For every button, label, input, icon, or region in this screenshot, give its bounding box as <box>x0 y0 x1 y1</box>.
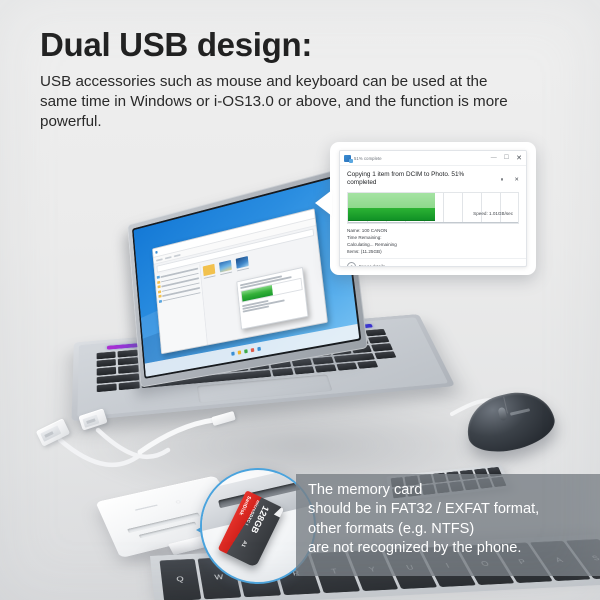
ribbon-tab[interactable] <box>165 256 172 259</box>
ribbon-tab[interactable] <box>174 254 181 257</box>
pc-icon <box>157 276 160 279</box>
key[interactable] <box>293 366 314 374</box>
dialog-actions[interactable]: ⏸ ✕ <box>501 171 520 184</box>
minimize-icon[interactable]: — <box>491 155 497 161</box>
memory-card-note-banner: The memory card should be in FAT32 / EXF… <box>296 474 600 576</box>
file-item[interactable] <box>236 256 249 271</box>
note-line-2: should be in FAT32 / EXFAT format, <box>308 500 594 519</box>
copy-details: Name: 100 CANON Time Remaining: Calculat… <box>347 228 519 256</box>
taskbar-icon-app[interactable] <box>257 347 261 351</box>
folder-icon <box>158 285 161 288</box>
key[interactable] <box>372 343 393 351</box>
cancel-button[interactable]: ✕ <box>514 178 519 184</box>
usb-tongue <box>82 415 99 428</box>
key[interactable] <box>119 381 140 390</box>
key-q[interactable]: Q <box>160 559 202 600</box>
taskbar-icon-start[interactable] <box>231 352 235 356</box>
folder-icon <box>157 281 160 284</box>
detail-name: Name: 100 CANON <box>347 228 519 235</box>
file-item[interactable] <box>219 260 232 275</box>
key[interactable] <box>357 361 379 369</box>
headline-block: Dual USB design: USB accessories such as… <box>40 28 560 133</box>
pause-button[interactable]: ⏸ <box>501 178 504 184</box>
detail-items: Items: (11.25GB) <box>347 249 519 256</box>
hub-led-icon <box>175 500 181 504</box>
note-line-1: The memory card <box>308 481 594 500</box>
fewer-details-link[interactable]: Fewer details <box>359 264 385 267</box>
window-controls[interactable]: — ☐ ✕ <box>491 155 522 162</box>
chevron-up-icon[interactable]: ⌃ <box>347 262 356 267</box>
dialog-body: Copying 1 item from DCIM to Photo. 51% c… <box>340 166 526 258</box>
key[interactable] <box>118 357 138 365</box>
dialog-header-row: Copying 1 item from DCIM to Photo. 51% c… <box>347 171 519 188</box>
taskbar-icon-app[interactable] <box>244 349 248 353</box>
key[interactable] <box>312 356 333 364</box>
subcopy-text: USB accessories such as mouse and keyboa… <box>40 72 510 133</box>
page-title: Dual USB design: <box>40 28 560 63</box>
callout-tail <box>315 190 332 216</box>
sd-class-label: A1 <box>240 539 248 548</box>
key[interactable] <box>118 365 138 373</box>
detail-time-remaining: Time Remaining: <box>347 235 519 242</box>
explorer-sidebar[interactable] <box>155 265 208 355</box>
key[interactable] <box>368 336 389 344</box>
detail-calculating: Calculating... Remaining <box>347 242 519 249</box>
close-icon[interactable]: ✕ <box>516 155 522 162</box>
copy-icon <box>344 155 351 162</box>
dialog-footer[interactable]: ⌃ Fewer details <box>340 258 526 267</box>
progress-fill-light <box>348 193 435 208</box>
explorer-icon <box>156 251 158 254</box>
copy-progress-dialog[interactable]: 51% complete — ☐ ✕ Copying 1 item from D… <box>339 150 527 267</box>
taskbar-icon-app[interactable] <box>251 348 255 352</box>
hub-logo <box>135 504 158 511</box>
dialog-title: 51% complete <box>354 156 382 161</box>
key[interactable] <box>272 368 293 377</box>
drive-icon <box>159 300 162 303</box>
key[interactable] <box>97 367 117 376</box>
mouse-brand-mark <box>510 408 530 415</box>
maximize-icon[interactable]: ☐ <box>504 155 509 161</box>
file-item[interactable] <box>203 264 216 279</box>
key[interactable] <box>97 359 117 367</box>
folder-icon <box>158 290 161 293</box>
dialog-title-bar: 51% complete — ☐ ✕ <box>340 151 526 166</box>
mini-copy-dialog[interactable] <box>236 267 308 329</box>
memory-card-note-text: The memory card should be in FAT32 / EXF… <box>308 481 594 558</box>
product-marketing-image: Dual USB design: USB accessories such as… <box>0 0 600 600</box>
key[interactable] <box>375 351 396 359</box>
note-line-3: other formats (e.g. NTFS) <box>308 520 594 539</box>
ribbon-tab[interactable] <box>156 258 163 261</box>
sd-notch <box>274 507 285 518</box>
speed-label: Speed: 1.01GB/sec <box>473 211 513 216</box>
copy-message: Copying 1 item from DCIM to Photo. 51% c… <box>347 171 467 188</box>
progress-fill <box>348 208 435 221</box>
key[interactable] <box>97 351 116 359</box>
taskbar-icon-explorer[interactable] <box>238 351 242 355</box>
note-line-4: are not recognized by the phone. <box>308 539 594 558</box>
key[interactable] <box>315 364 336 372</box>
key[interactable] <box>336 362 358 370</box>
folder-icon <box>159 295 162 298</box>
usb-tongue <box>40 425 61 441</box>
key[interactable] <box>118 349 138 357</box>
callout-bubble: 51% complete — ☐ ✕ Copying 1 item from D… <box>330 142 536 275</box>
key[interactable] <box>365 329 386 337</box>
progress-baseline <box>348 222 518 223</box>
key[interactable] <box>97 383 117 392</box>
progress-graph: Speed: 1.01GB/sec <box>347 192 519 224</box>
